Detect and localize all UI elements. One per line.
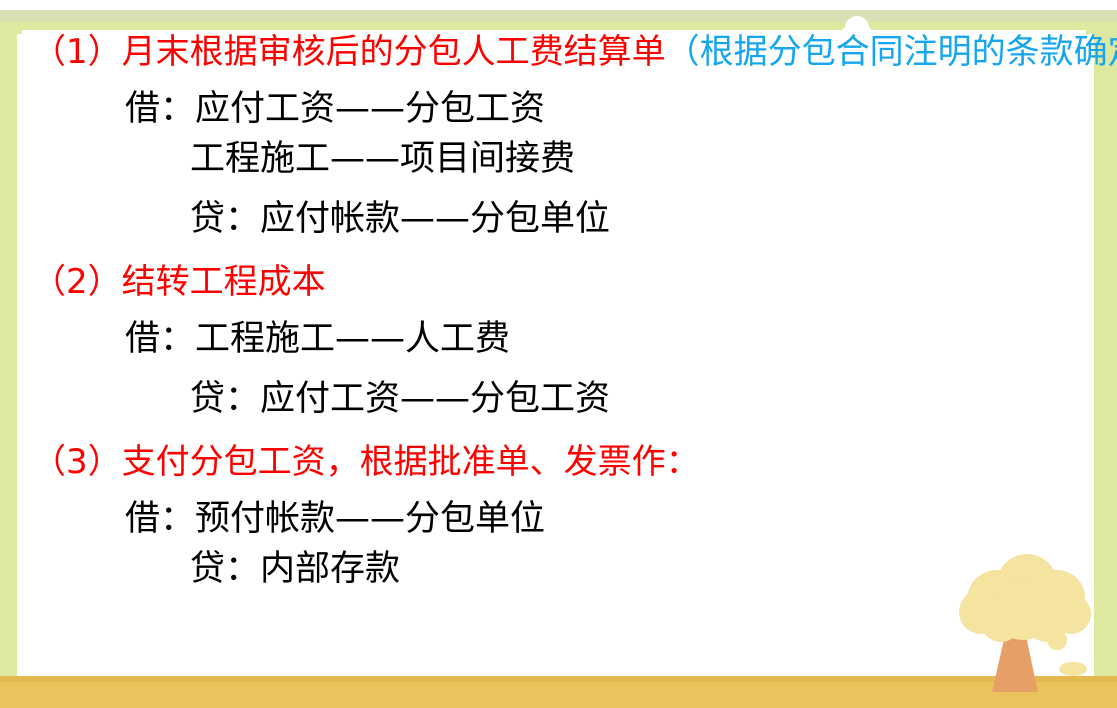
section-1-entry-3: 贷：应付帐款——分包单位 xyxy=(22,194,1086,244)
section-3: （3）支付分包工资，根据批准单、发票作： 借：预付帐款——分包单位 贷：内部存款 xyxy=(22,440,1086,594)
spacer xyxy=(22,184,1086,194)
section-2: （2）结转工程成本 借：工程施工——人工费 贷：应付工资——分包工资 xyxy=(22,260,1086,424)
spacer xyxy=(22,484,1086,494)
spacer xyxy=(22,74,1086,84)
section-2-entry-1: 借：工程施工——人工费 xyxy=(22,314,1086,364)
section-2-entry-2: 贷：应付工资——分包工资 xyxy=(22,374,1086,424)
spacer xyxy=(22,424,1086,440)
spacer xyxy=(22,244,1086,260)
section-3-entry-1: 借：预付帐款——分包单位 xyxy=(22,494,1086,544)
left-green-rail xyxy=(0,22,17,686)
section-1: （1）月末根据审核后的分包人工费结算单（根据分包合同注明的条款确定外包工资外包管… xyxy=(22,30,1086,244)
section-2-heading-red-prefix: （2）结转工程成本 xyxy=(32,262,326,302)
section-3-entry-2: 贷：内部存款 xyxy=(22,544,1086,594)
spacer xyxy=(22,304,1086,314)
section-1-heading: （1）月末根据审核后的分包人工费结算单（根据分包合同注明的条款确定外包工资外包管… xyxy=(22,30,1086,74)
section-3-heading-red-prefix: （3）支付分包工资，根据批准单、发票作： xyxy=(32,442,700,482)
section-1-heading-blue-part: （根据分包合同注明的条款确定外包工资外包管理费的比例） xyxy=(666,32,1117,72)
section-1-heading-red-prefix: （1）月末根据审核后的分包人工费结算单 xyxy=(32,32,666,72)
spacer xyxy=(22,364,1086,374)
top-green-band xyxy=(0,10,1117,22)
slide-canvas: （1）月末根据审核后的分包人工费结算单（根据分包合同注明的条款确定外包工资外包管… xyxy=(0,0,1117,708)
bottom-gold-band-edge xyxy=(0,676,1117,682)
section-1-entry-2: 工程施工——项目间接费 xyxy=(22,134,1086,184)
section-1-entry-1: 借：应付工资——分包工资 xyxy=(22,84,1086,134)
section-2-heading: （2）结转工程成本 xyxy=(22,260,1086,304)
right-green-rail xyxy=(1094,22,1117,686)
section-3-heading: （3）支付分包工资，根据批准单、发票作： xyxy=(22,440,1086,484)
slide-body: （1）月末根据审核后的分包人工费结算单（根据分包合同注明的条款确定外包工资外包管… xyxy=(22,30,1086,676)
